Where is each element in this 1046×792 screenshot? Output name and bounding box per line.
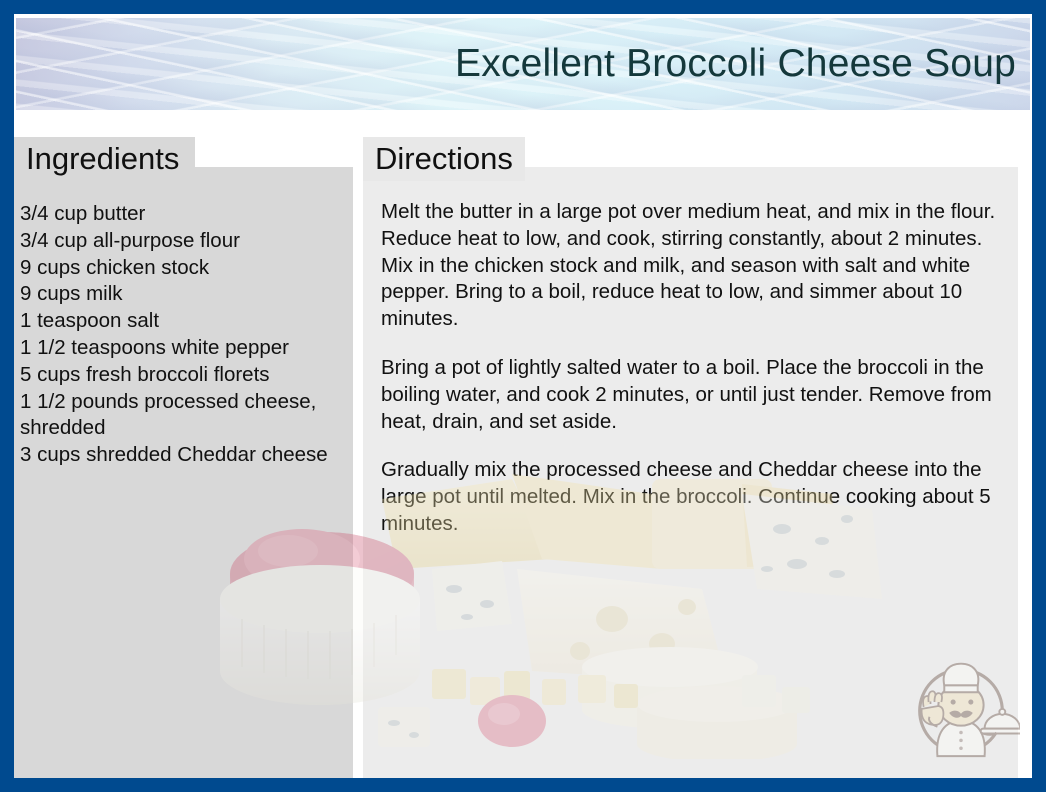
recipe-slide: Excellent Broccoli Cheese Soup [0, 0, 1046, 792]
list-item: 5 cups fresh broccoli florets [20, 362, 349, 389]
list-item: 3/4 cup butter [20, 201, 349, 228]
list-item: 1 teaspoon salt [20, 308, 349, 335]
ingredients-panel: 3/4 cup butter 3/4 cup all-purpose flour… [14, 167, 353, 778]
list-item: 1 1/2 pounds processed cheese, shredded [20, 389, 349, 443]
ingredients-heading: Ingredients [14, 137, 195, 181]
list-item: 3 cups shredded Cheddar cheese [20, 442, 349, 469]
list-item: 1 1/2 teaspoons white pepper [20, 335, 349, 362]
list-item: 9 cups milk [20, 281, 349, 308]
direction-step: Bring a pot of lightly salted water to a… [381, 355, 998, 435]
directions-panel: Melt the butter in a large pot over medi… [363, 167, 1018, 778]
list-item: 9 cups chicken stock [20, 255, 349, 282]
ingredient-list: 3/4 cup butter 3/4 cup all-purpose flour… [20, 201, 349, 469]
direction-step: Melt the butter in a large pot over medi… [381, 199, 998, 333]
title-banner: Excellent Broccoli Cheese Soup [16, 18, 1030, 110]
page-title: Excellent Broccoli Cheese Soup [455, 42, 1016, 86]
list-item: 3/4 cup all-purpose flour [20, 228, 349, 255]
directions-heading: Directions [363, 137, 525, 181]
slide-content-area: Excellent Broccoli Cheese Soup [14, 14, 1032, 778]
direction-step: Gradually mix the processed cheese and C… [381, 457, 998, 537]
directions-body: Melt the butter in a large pot over medi… [381, 199, 998, 538]
